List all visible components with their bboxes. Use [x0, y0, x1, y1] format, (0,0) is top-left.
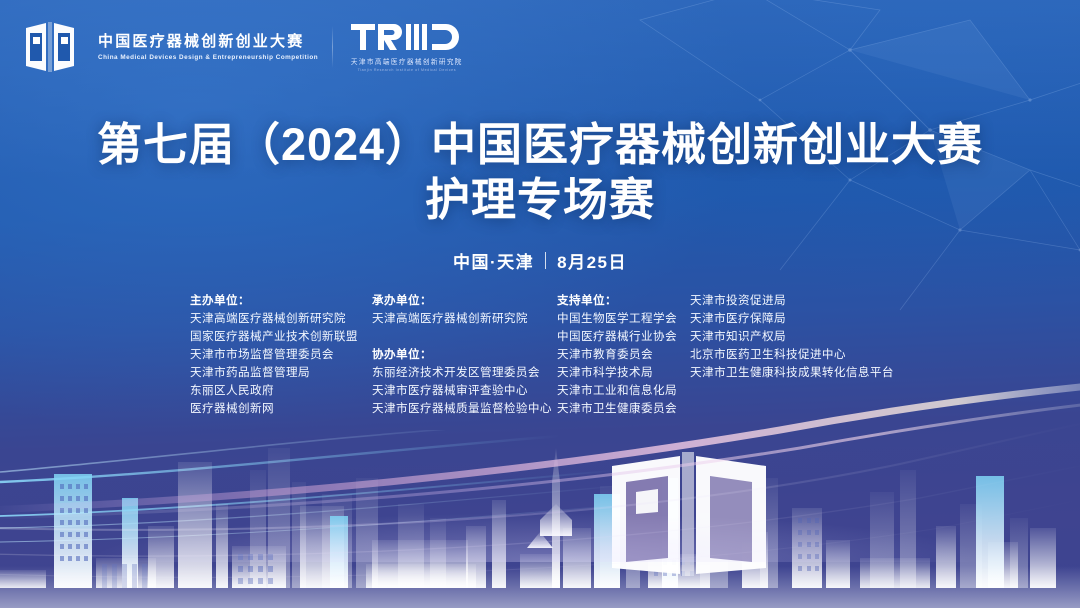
organizer-item: 中国生物医学工程学会: [557, 310, 690, 328]
competition-logo-cn: 中国医疗器械创新创业大赛: [98, 33, 314, 50]
organizer-column-host: 主办单位： 天津高端医疗器械创新研究院 国家医疗器械产业技术创新联盟 天津市市场…: [190, 292, 372, 418]
skyline-gate-landmark: [612, 452, 766, 576]
organizer-item: 北京市医药卫生科技促进中心: [690, 346, 900, 364]
organizer-item: 天津市工业和信息化局: [557, 382, 690, 400]
organizer-item: 天津市药品监督管理局: [190, 364, 372, 382]
organizer-heading: 协办单位：: [372, 346, 557, 364]
organizer-item: 天津高端医疗器械创新研究院: [372, 310, 557, 328]
page-title-line2: 护理专场赛: [0, 173, 1080, 226]
organizer-item: 天津市医疗保障局: [690, 310, 900, 328]
organizer-item: 医疗器械创新网: [190, 400, 372, 418]
organizer-item: 天津市医疗器械质量监督检验中心: [372, 400, 557, 418]
light-streak-lines-left-icon: [0, 430, 700, 570]
organizer-item: 东丽区人民政府: [190, 382, 372, 400]
poster-canvas: 中国医疗器械创新创业大赛 China Medical Devices Desig…: [0, 0, 1080, 608]
open-door-logo-icon: [24, 22, 80, 72]
organizer-item: 东丽经济技术开发区管理委员会: [372, 364, 557, 382]
institute-logo-en: Tianjin Research Institute of Medical De…: [358, 68, 457, 72]
organizer-item: 天津市医疗器械审评查验中心: [372, 382, 557, 400]
organizer-columns: 主办单位： 天津高端医疗器械创新研究院 国家医疗器械产业技术创新联盟 天津市市场…: [190, 292, 900, 418]
competition-logo-text: 中国医疗器械创新创业大赛 China Medical Devices Desig…: [98, 33, 314, 60]
institute-logo: 天津市高端医疗器械创新研究院 Tianjin Research Institut…: [351, 22, 463, 72]
city-skyline-silhouette-icon: [0, 408, 1080, 608]
subtitle-separator: [545, 252, 546, 269]
column-spacer: [372, 328, 557, 346]
trmd-wordmark-icon: [351, 22, 463, 52]
event-date: 8月25日: [557, 248, 627, 273]
header-logo-bar: 中国医疗器械创新创业大赛 China Medical Devices Desig…: [24, 22, 463, 72]
organizer-item: 中国医疗器械行业协会: [557, 328, 690, 346]
organizer-heading: 支持单位：: [557, 292, 690, 310]
competition-logo-en: China Medical Devices Design & Entrepren…: [98, 54, 318, 61]
organizer-item: 国家医疗器械产业技术创新联盟: [190, 328, 372, 346]
organizer-item: 天津市教育委员会: [557, 346, 690, 364]
ground-haze-overlay: [0, 492, 1080, 562]
organizer-column-supporter-a: 支持单位： 中国生物医学工程学会 中国医疗器械行业协会 天津市教育委员会 天津市…: [557, 292, 690, 418]
organizer-column-organizer: 承办单位： 天津高端医疗器械创新研究院 协办单位： 东丽经济技术开发区管理委员会…: [372, 292, 557, 418]
organizer-item: 天津高端医疗器械创新研究院: [190, 310, 372, 328]
title-block: 第七届（2024）中国医疗器械创新创业大赛 护理专场赛 中国·天津 8月25日: [0, 118, 1080, 273]
organizer-item: 天津市知识产权局: [690, 328, 900, 346]
organizer-heading: 承办单位：: [372, 292, 557, 310]
organizer-heading: 主办单位：: [190, 292, 372, 310]
logo-divider: [332, 26, 333, 68]
institute-logo-cn: 天津市高端医疗器械创新研究院: [351, 56, 463, 66]
organizer-item: 天津市投资促进局: [690, 292, 900, 310]
organizer-column-supporter-b: 天津市投资促进局 天津市医疗保障局 天津市知识产权局 北京市医药卫生科技促进中心…: [690, 292, 900, 418]
organizer-item: 天津市卫生健康科技成果转化信息平台: [690, 364, 900, 382]
organizer-item: 天津市科学技术局: [557, 364, 690, 382]
organizer-item: 天津市卫生健康委员会: [557, 400, 690, 418]
page-title-line1: 第七届（2024）中国医疗器械创新创业大赛: [0, 118, 1080, 171]
event-location: 中国·天津: [453, 248, 534, 273]
organizer-item: 天津市市场监督管理委员会: [190, 346, 372, 364]
subtitle-row: 中国·天津 8月25日: [0, 248, 1080, 273]
